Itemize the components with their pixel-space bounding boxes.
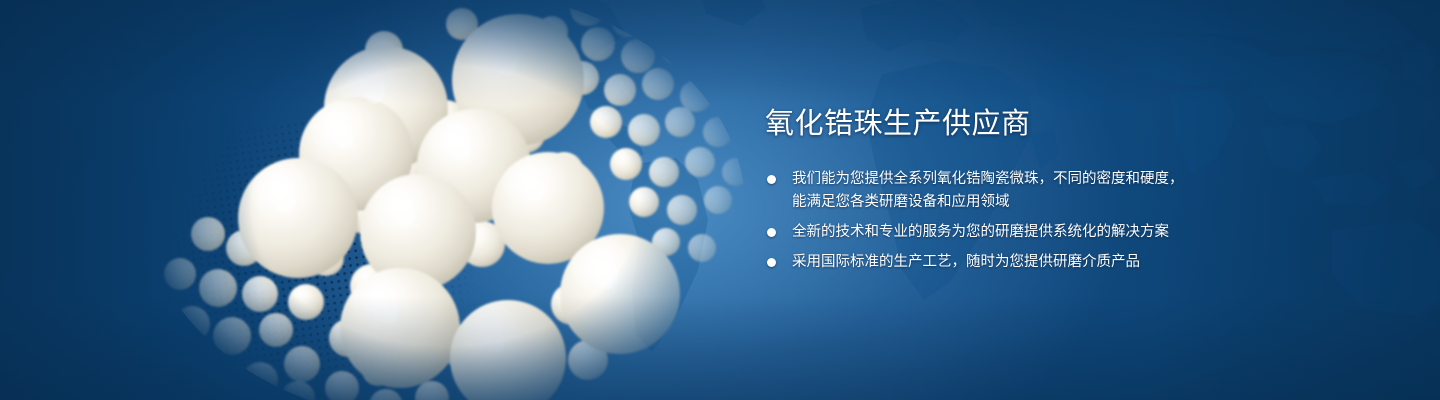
list-item-line: 能满足您各类研磨设备和应用领域 <box>792 191 1325 214</box>
list-item-line: 我们能为您提供全系列氧化锆陶瓷微珠，不同的密度和硬度， <box>792 168 1325 191</box>
banner-copy: 氧化锆珠生产供应商 我们能为您提供全系列氧化锆陶瓷微珠，不同的密度和硬度， 能满… <box>765 106 1325 274</box>
bullet-dot-icon <box>767 175 776 184</box>
bullet-dot-icon <box>767 258 776 267</box>
feature-list: 我们能为您提供全系列氧化锆陶瓷微珠，不同的密度和硬度， 能满足您各类研磨设备和应… <box>765 168 1325 274</box>
list-item: 采用国际标准的生产工艺，随时为您提供研磨介质产品 <box>765 251 1325 274</box>
list-item: 我们能为您提供全系列氧化锆陶瓷微珠，不同的密度和硬度， 能满足您各类研磨设备和应… <box>765 168 1325 214</box>
hero-banner: 氧化锆珠生产供应商 我们能为您提供全系列氧化锆陶瓷微珠，不同的密度和硬度， 能满… <box>0 0 1440 400</box>
list-item-line: 全新的技术和专业的服务为您的研磨提供系统化的解决方案 <box>792 221 1325 244</box>
list-item-line: 采用国际标准的生产工艺，随时为您提供研磨介质产品 <box>792 251 1325 274</box>
bullet-dot-icon <box>767 228 776 237</box>
page-title: 氧化锆珠生产供应商 <box>765 106 1325 142</box>
list-item: 全新的技术和专业的服务为您的研磨提供系统化的解决方案 <box>765 221 1325 244</box>
